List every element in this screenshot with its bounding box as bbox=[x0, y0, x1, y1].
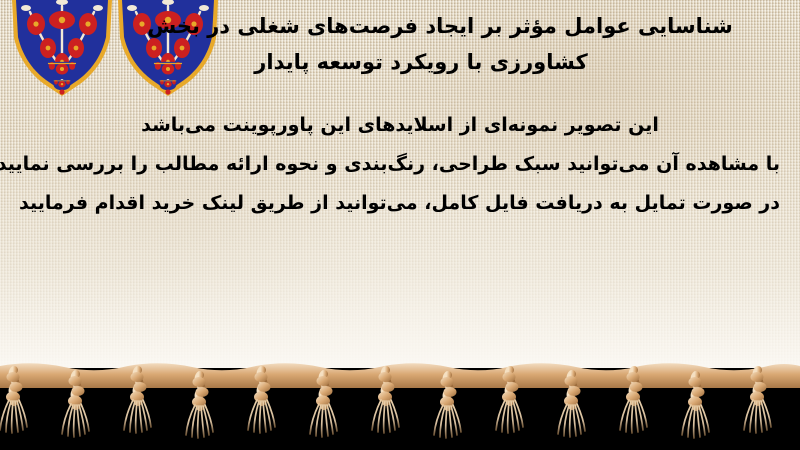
slide-body-text: این تصویر نمونه‌ای از اسلایدهای این پاور… bbox=[20, 106, 780, 223]
title-line-1: شناسایی عوامل مؤثر بر ایجاد فرصت‌های شغل… bbox=[100, 8, 780, 44]
slide-text-layer: شناسایی عوامل مؤثر بر ایجاد فرصت‌های شغل… bbox=[0, 0, 800, 380]
title-line-2: کشاورزی با رویکرد توسعه پایدار bbox=[100, 44, 780, 80]
slide-canvas: شناسایی عوامل مؤثر بر ایجاد فرصت‌های شغل… bbox=[0, 0, 800, 450]
slide-title: شناسایی عوامل مؤثر بر ایجاد فرصت‌های شغل… bbox=[100, 8, 780, 80]
knotted-tassel-fringe-icon bbox=[0, 362, 800, 442]
body-line-1: این تصویر نمونه‌ای از اسلایدهای این پاور… bbox=[20, 106, 780, 145]
body-line-2: با مشاهده آن می‌توانید سبک طراحی، رنگ‌بن… bbox=[20, 145, 780, 184]
body-line-3: در صورت تمایل به دریافت فایل کامل، می‌تو… bbox=[20, 184, 780, 223]
